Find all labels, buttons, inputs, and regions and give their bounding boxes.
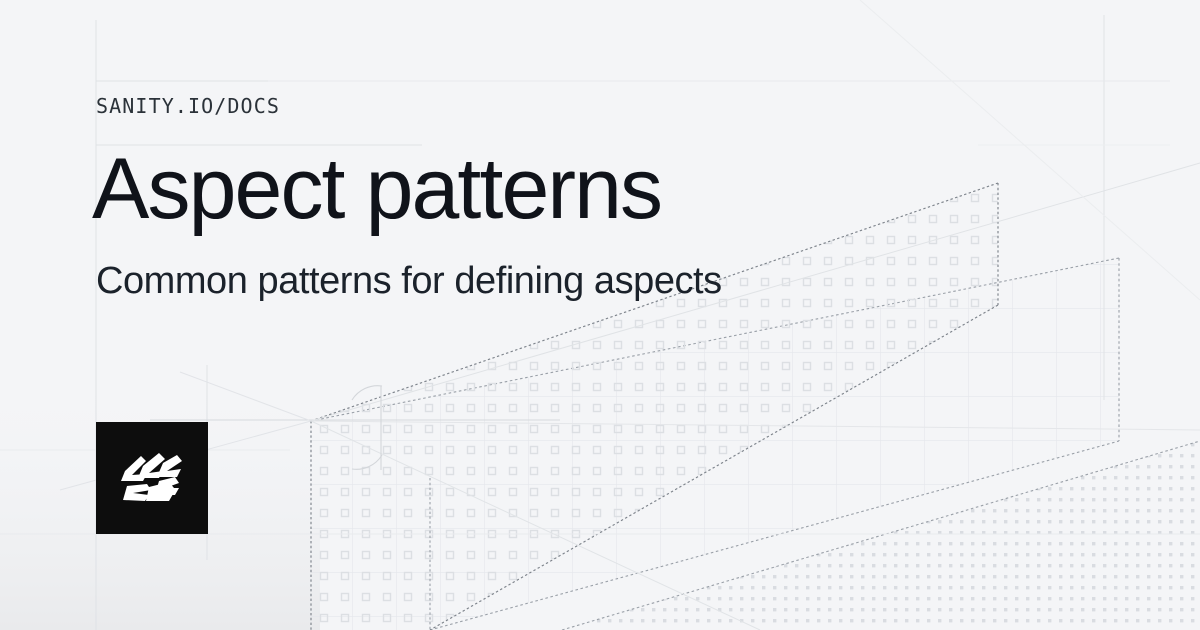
sanity-logo-icon — [119, 451, 185, 505]
content-block: SANITY.IO/DOCS Aspect patterns Common pa… — [96, 0, 1096, 630]
page-title: Aspect patterns — [92, 143, 661, 235]
eyebrow-label: SANITY.IO/DOCS — [96, 93, 280, 119]
page-subtitle: Common patterns for defining aspects — [96, 258, 722, 304]
sanity-logo — [96, 422, 208, 534]
og-card: SANITY.IO/DOCS Aspect patterns Common pa… — [0, 0, 1200, 630]
